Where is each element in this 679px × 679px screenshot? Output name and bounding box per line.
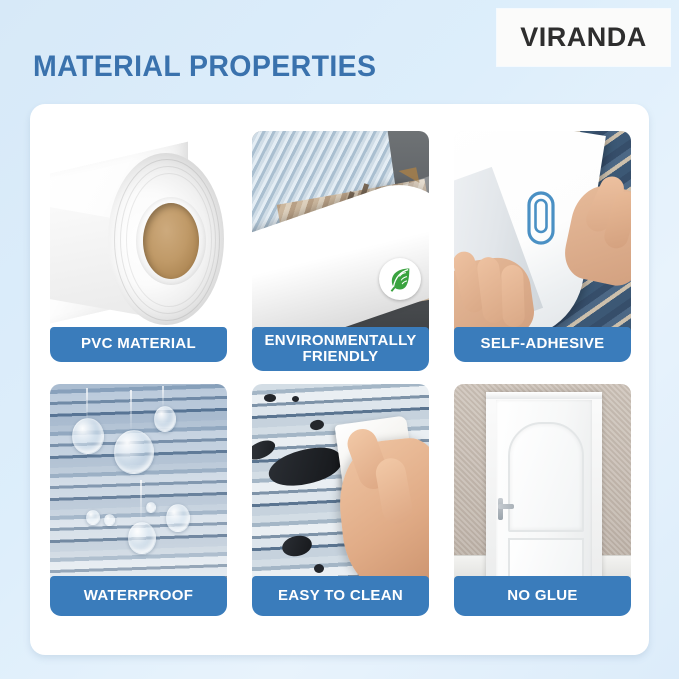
feature-card-environmentally-friendly[interactable]: ENVIRONMENTALLY FRIENDLY <box>252 131 429 371</box>
water-droplets-image <box>50 384 227 580</box>
card-label-environmentally-friendly: ENVIRONMENTALLY FRIENDLY <box>252 327 429 371</box>
brand-logo-box: VIRANDA <box>497 9 670 66</box>
hands-peeling-image <box>454 131 631 335</box>
card-label-line-2: FRIENDLY <box>302 348 378 365</box>
feature-card-self-adhesive[interactable]: SELF-ADHESIVE <box>454 131 631 362</box>
card-label-pvc-material: PVC MATERIAL <box>50 327 227 362</box>
card-label-no-glue: NO GLUE <box>454 576 631 616</box>
page-title: MATERIAL PROPERTIES <box>33 50 376 84</box>
white-door-image <box>454 384 631 580</box>
pvc-roll-image <box>50 131 227 335</box>
feature-card-no-glue[interactable]: NO GLUE <box>454 384 631 616</box>
feature-card-pvc-material[interactable]: PVC MATERIAL <box>50 131 227 362</box>
peeling-wallpaper-image <box>252 131 429 335</box>
brand-name: VIRANDA <box>520 22 647 53</box>
leaf-icon <box>379 258 421 300</box>
card-label-waterproof: WATERPROOF <box>50 576 227 616</box>
paperclip-icon <box>524 189 558 252</box>
feature-card-easy-to-clean[interactable]: EASY TO CLEAN <box>252 384 429 616</box>
card-label-self-adhesive: SELF-ADHESIVE <box>454 327 631 362</box>
wiping-cloth-image <box>252 384 429 580</box>
infographic-page: VIRANDA MATERIAL PROPERTIES PVC MATERIAL <box>0 0 679 679</box>
feature-card-waterproof[interactable]: WATERPROOF <box>50 384 227 616</box>
card-label-easy-to-clean: EASY TO CLEAN <box>252 576 429 616</box>
feature-grid: PVC MATERIAL <box>50 131 631 626</box>
card-label-line-1: ENVIRONMENTALLY <box>264 332 416 349</box>
